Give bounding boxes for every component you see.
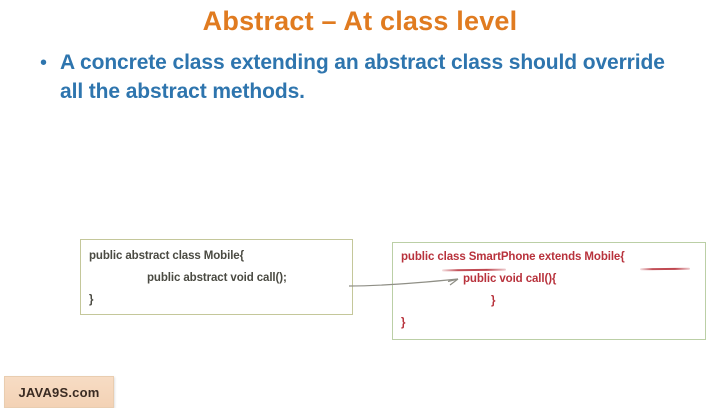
code-line: public class SmartPhone extends Mobile{ xyxy=(401,251,625,263)
page-title: Abstract – At class level xyxy=(0,4,720,38)
code-line: } xyxy=(89,294,93,306)
code-line: public abstract class Mobile{ xyxy=(89,250,244,262)
logo-text: JAVA9S.com xyxy=(19,385,100,400)
bullet-marker-icon: • xyxy=(40,48,60,77)
bullet-item: • A concrete class extending an abstract… xyxy=(40,48,680,106)
code-line: public void call(){ xyxy=(463,273,556,285)
code-line: } xyxy=(401,317,405,329)
code-line: } xyxy=(491,295,495,307)
abstract-class-code-box: public abstract class Mobile{ public abs… xyxy=(80,239,353,315)
slide-canvas: Abstract – At class level • A concrete c… xyxy=(0,0,720,404)
arrow-connector-icon xyxy=(348,272,468,298)
code-line: public abstract void call(); xyxy=(147,272,287,284)
bullet-text: A concrete class extending an abstract c… xyxy=(60,48,680,106)
site-logo: JAVA9S.com xyxy=(4,376,114,408)
